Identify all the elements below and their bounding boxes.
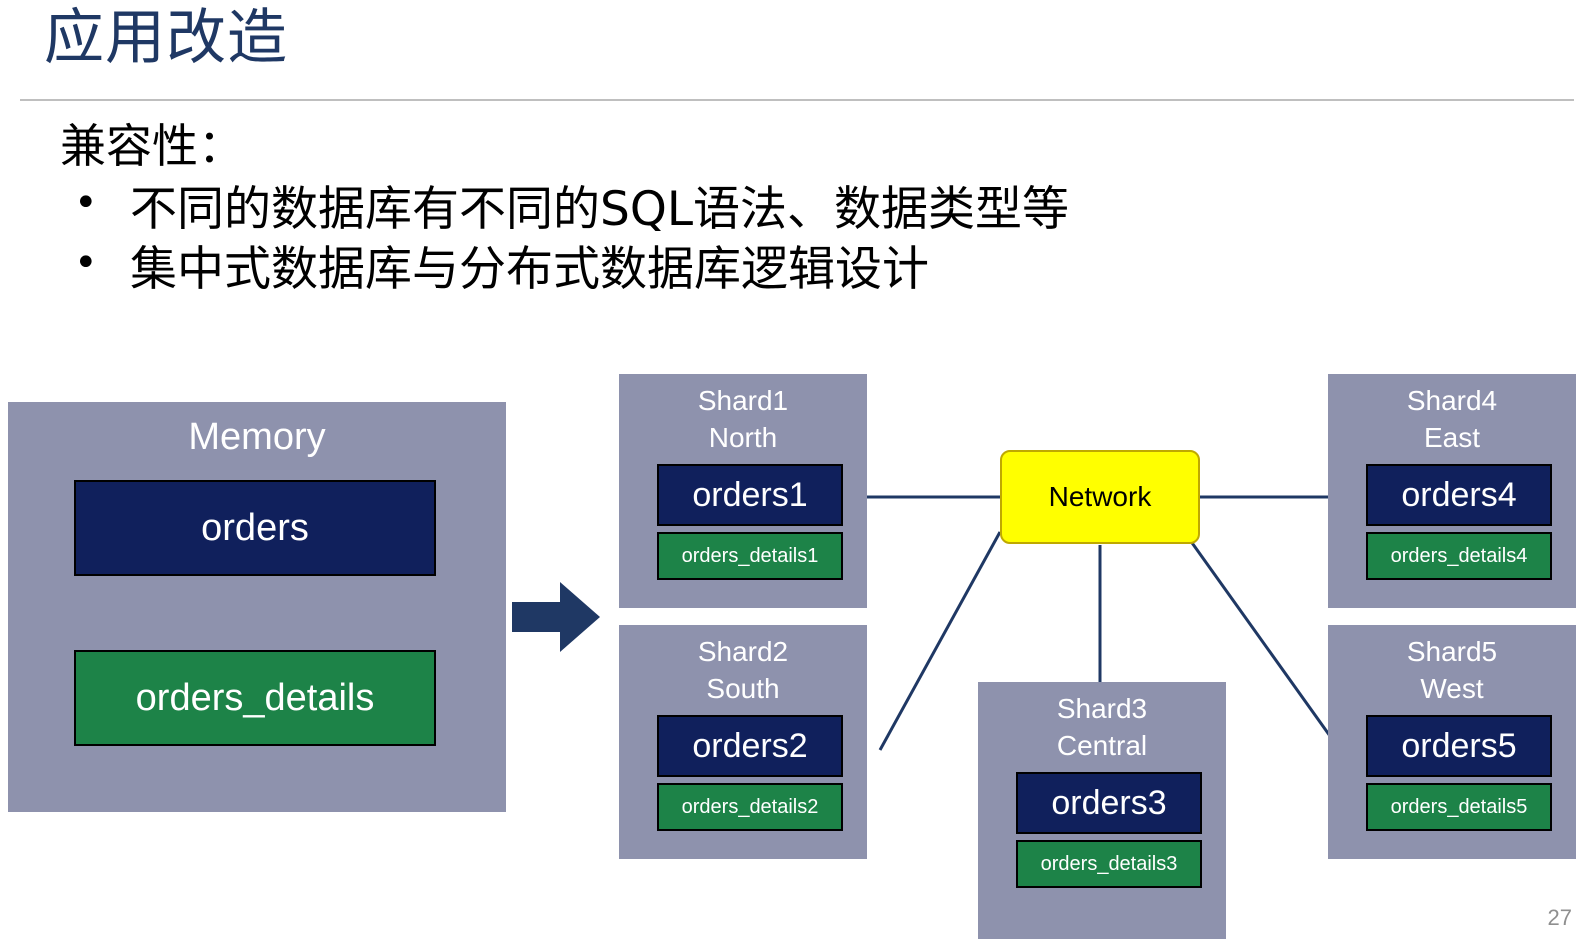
shard-4-orders-table: orders4 bbox=[1366, 464, 1552, 526]
shard-5-orders-table: orders5 bbox=[1366, 715, 1552, 777]
shard-3-details-table-label: orders_details3 bbox=[1041, 853, 1178, 876]
list-item-label: 集中式数据库与分布式数据库逻辑设计 bbox=[130, 242, 929, 297]
shard-4-region: East bbox=[1328, 419, 1576, 456]
shard-4-title: Shard4 East bbox=[1328, 374, 1576, 456]
architecture-diagram: Memory orders orders_details Shard1 Nort… bbox=[0, 360, 1594, 939]
shard-1-orders-table-label: orders1 bbox=[692, 476, 807, 515]
title-divider bbox=[20, 99, 1574, 101]
shard-5-region: West bbox=[1328, 670, 1576, 707]
bullet-list: • 不同的数据库有不同的SQL语法、数据类型等 • 集中式数据库与分布式数据库逻… bbox=[60, 180, 1460, 300]
shard-2-orders-table-label: orders2 bbox=[692, 727, 807, 766]
shard-2-region: South bbox=[619, 670, 867, 707]
shard-4-details-table: orders_details4 bbox=[1366, 532, 1552, 580]
shard-box-2: Shard2 South orders2 orders_details2 bbox=[619, 625, 867, 859]
page-number: 27 bbox=[1548, 905, 1572, 931]
network-node: Network bbox=[1000, 450, 1200, 544]
shard-5-details-table-label: orders_details5 bbox=[1391, 796, 1528, 819]
memory-orders-details-table-label: orders_details bbox=[136, 677, 375, 720]
shard-3-name: Shard3 bbox=[978, 690, 1226, 727]
body-text: 兼容性： • 不同的数据库有不同的SQL语法、数据类型等 • 集中式数据库与分布… bbox=[60, 118, 1460, 300]
shard-3-title: Shard3 Central bbox=[978, 682, 1226, 764]
shard-box-1: Shard1 North orders1 orders_details1 bbox=[619, 374, 867, 608]
list-item: • 不同的数据库有不同的SQL语法、数据类型等 bbox=[60, 180, 1460, 240]
shard-box-4: Shard4 East orders4 orders_details4 bbox=[1328, 374, 1576, 608]
shard-3-details-table: orders_details3 bbox=[1016, 840, 1202, 888]
shard-1-region: North bbox=[619, 419, 867, 456]
shard-5-orders-table-label: orders5 bbox=[1401, 727, 1516, 766]
shard-5-title: Shard5 West bbox=[1328, 625, 1576, 707]
bullet-glyph: • bbox=[74, 178, 98, 229]
memory-orders-details-table: orders_details bbox=[74, 650, 436, 746]
shard-3-orders-table: orders3 bbox=[1016, 772, 1202, 834]
shard-2-orders-table: orders2 bbox=[657, 715, 843, 777]
shard-2-name: Shard2 bbox=[619, 633, 867, 670]
memory-orders-table-label: orders bbox=[201, 507, 309, 550]
shard-2-title: Shard2 South bbox=[619, 625, 867, 707]
shard-5-details-table: orders_details5 bbox=[1366, 783, 1552, 831]
memory-box: Memory orders orders_details bbox=[8, 402, 506, 812]
shard-3-orders-table-label: orders3 bbox=[1051, 784, 1166, 823]
body-lead: 兼容性： bbox=[60, 118, 1460, 174]
transform-arrow-icon bbox=[512, 578, 602, 656]
shard-1-orders-table: orders1 bbox=[657, 464, 843, 526]
shard-3-region: Central bbox=[978, 727, 1226, 764]
bullet-glyph: • bbox=[74, 238, 98, 289]
shard-4-details-table-label: orders_details4 bbox=[1391, 545, 1528, 568]
memory-orders-table: orders bbox=[74, 480, 436, 576]
shard-4-orders-table-label: orders4 bbox=[1401, 476, 1516, 515]
network-node-label: Network bbox=[1049, 481, 1152, 513]
shard-4-name: Shard4 bbox=[1328, 382, 1576, 419]
shard-2-details-table-label: orders_details2 bbox=[682, 796, 819, 819]
page-title: 应用改造 bbox=[44, 4, 288, 73]
shard-5-name: Shard5 bbox=[1328, 633, 1576, 670]
shard-1-name: Shard1 bbox=[619, 382, 867, 419]
shard-box-5: Shard5 West orders5 orders_details5 bbox=[1328, 625, 1576, 859]
shard-1-title: Shard1 North bbox=[619, 374, 867, 456]
shard-1-details-table: orders_details1 bbox=[657, 532, 843, 580]
shard-1-details-table-label: orders_details1 bbox=[682, 545, 819, 568]
list-item: • 集中式数据库与分布式数据库逻辑设计 bbox=[60, 240, 1460, 300]
shard-box-3: Shard3 Central orders3 orders_details3 bbox=[978, 682, 1226, 939]
memory-title: Memory bbox=[8, 402, 506, 459]
list-item-label: 不同的数据库有不同的SQL语法、数据类型等 bbox=[130, 182, 1069, 237]
shard-2-details-table: orders_details2 bbox=[657, 783, 843, 831]
